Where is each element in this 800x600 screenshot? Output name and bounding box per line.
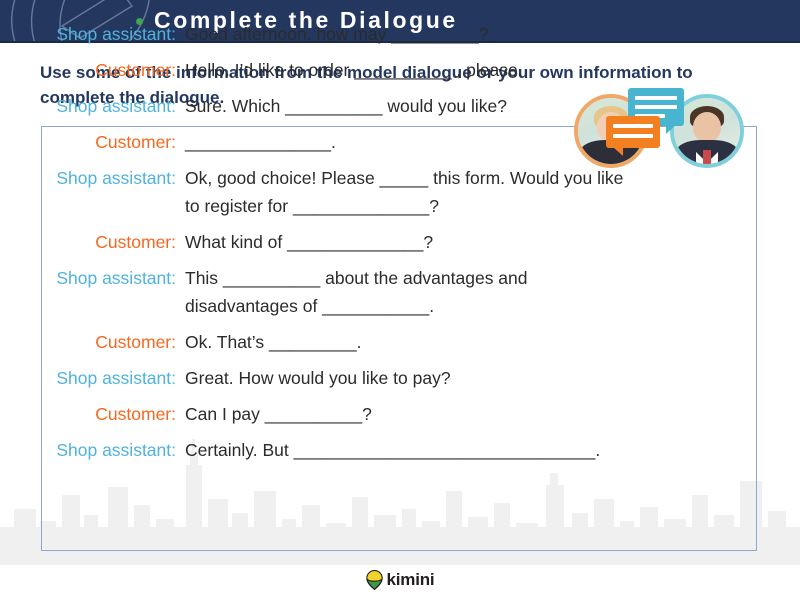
dialogue-row: Customer:What kind of ______________? <box>0 228 716 256</box>
dialogue-row: Shop assistant:Good afternoon, how may _… <box>0 20 716 48</box>
dialogue-speaker-customer: Customer: <box>0 128 185 156</box>
dialogue-text: Good afternoon, how may _________? <box>185 20 716 48</box>
dialogue-text: Ok, good choice! Please _____ this form.… <box>185 164 716 220</box>
dialogue-text-line: What kind of ______________? <box>185 232 433 252</box>
speech-bubble-orange-icon <box>606 116 660 148</box>
dialogue-text-line: to register for ______________? <box>185 192 716 220</box>
dialogue-text-line: Ok, good choice! Please _____ this form.… <box>185 168 623 188</box>
dialogue-speaker-customer: Customer: <box>0 400 185 428</box>
dialogue-text-line: _______________. <box>185 132 336 152</box>
dialogue-row: Shop assistant:Great. How would you like… <box>0 364 716 392</box>
dialogue-text: What kind of ______________? <box>185 228 716 256</box>
dialogue-speaker-shop: Shop assistant: <box>0 92 185 120</box>
footer-logo: kimini <box>0 570 800 590</box>
dialogue-text-line: Ok. That’s _________. <box>185 332 361 352</box>
dialogue-text-line: Hello. I’d like to order __________ , pl… <box>185 60 523 80</box>
kimini-balloon-icon <box>366 570 383 590</box>
dialogue-speaker-shop: Shop assistant: <box>0 436 185 464</box>
dialogue-row: Shop assistant:Certainly. But __________… <box>0 436 716 464</box>
dialogue-text-line: Certainly. But _________________________… <box>185 440 600 460</box>
dialogue-text-line: Great. How would you like to pay? <box>185 368 451 388</box>
dialogue-text: Can I pay __________? <box>185 400 716 428</box>
dialogue-text: Great. How would you like to pay? <box>185 364 716 392</box>
dialogue-speaker-customer: Customer: <box>0 228 185 256</box>
dialogue-row: Customer:Can I pay __________? <box>0 400 716 428</box>
dialogue-row: Shop assistant:Ok, good choice! Please _… <box>0 164 716 220</box>
dialogue-text-line: Can I pay __________? <box>185 404 372 424</box>
dialogue-text: Hello. I’d like to order __________ , pl… <box>185 56 716 84</box>
dialogue-row: Shop assistant:This __________ about the… <box>0 264 716 320</box>
dialogue-speaker-shop: Shop assistant: <box>0 264 185 292</box>
dialogue-speaker-shop: Shop assistant: <box>0 364 185 392</box>
dialogue-text-line: disadvantages of ___________. <box>185 292 716 320</box>
dialogue-text: Ok. That’s _________. <box>185 328 716 356</box>
dialogue-speaker-customer: Customer: <box>0 56 185 84</box>
dialogue-speaker-customer: Customer: <box>0 328 185 356</box>
dialogue-text-line: Sure. Which __________ would you like? <box>185 96 507 116</box>
logo-text: kimini <box>387 570 435 590</box>
people-illustration <box>566 86 762 172</box>
dialogue-row: Customer:Hello. I’d like to order ______… <box>0 56 716 84</box>
dialogue-text-line: Good afternoon, how may _________? <box>185 24 489 44</box>
dialogue-speaker-shop: Shop assistant: <box>0 20 185 48</box>
dialogue-text-line: This __________ about the advantages and <box>185 268 528 288</box>
dialogue-speaker-shop: Shop assistant: <box>0 164 185 192</box>
dialogue-text: Certainly. But _________________________… <box>185 436 716 464</box>
dialogue-text: This __________ about the advantages and… <box>185 264 716 320</box>
dialogue-row: Customer:Ok. That’s _________. <box>0 328 716 356</box>
